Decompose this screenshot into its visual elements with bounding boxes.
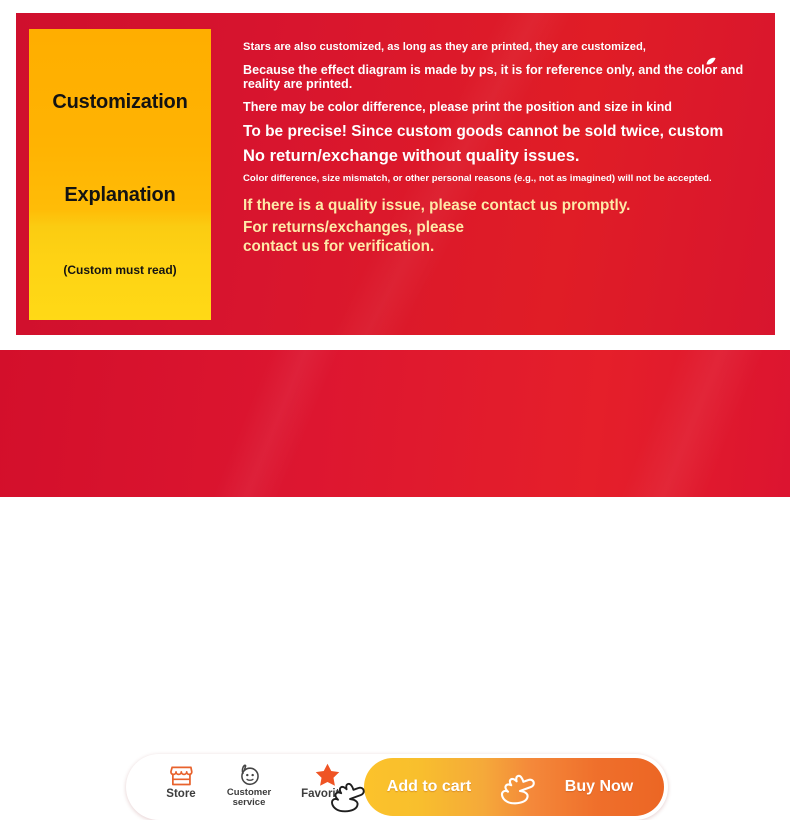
notice-line-stars-customized: Stars are also customized, as long as th…: [243, 41, 771, 54]
customer-service-icon: [237, 762, 262, 788]
notice-line-returns-exchanges: For returns/exchanges, please: [243, 218, 771, 237]
notice-line-effect-diagram-ps: Because the effect diagram is made by ps…: [243, 63, 771, 91]
notice-line-no-return-exchange: No return/exchange without quality issue…: [243, 147, 771, 165]
store-button[interactable]: Store: [146, 762, 216, 800]
card-title-explanation: Explanation: [64, 184, 175, 207]
notice-line-not-accepted-reasons: Color difference, size mismatch, or othe…: [243, 174, 771, 185]
card-title-customization: Customization: [52, 91, 187, 114]
notice-list: Stars are also customized, as long as th…: [243, 41, 771, 256]
store-label: Store: [166, 788, 195, 800]
customer-service-label-line-1: Customer: [227, 788, 271, 798]
store-icon: [169, 762, 194, 788]
notice-line-to-be-precise: To be precise! Since custom goods cannot…: [243, 123, 771, 140]
pointing-hand-icon: [326, 776, 370, 818]
notice-line-color-difference: There may be color difference, please pr…: [243, 100, 771, 114]
pointing-hand-icon: [496, 768, 540, 810]
notice-line-quality-issue-contact: If there is a quality issue, please cont…: [243, 197, 771, 214]
notice-line-contact-verification: contact us for verification.: [243, 237, 771, 256]
customer-service-button[interactable]: Customer service: [212, 762, 286, 808]
card-note-custom-must-read: (Custom must read): [63, 263, 176, 277]
purchase-pill-container: Store Customer service: [126, 754, 668, 820]
petal-icon: [706, 57, 717, 66]
add-to-cart-button[interactable]: Add to cart: [364, 758, 516, 816]
customer-service-label-line-2: service: [233, 798, 266, 808]
purchase-action-bar: Store Customer service: [0, 350, 790, 497]
customization-info-panel: Customization Explanation (Custom must r…: [16, 13, 775, 335]
customization-label-card: Customization Explanation (Custom must r…: [29, 29, 211, 320]
